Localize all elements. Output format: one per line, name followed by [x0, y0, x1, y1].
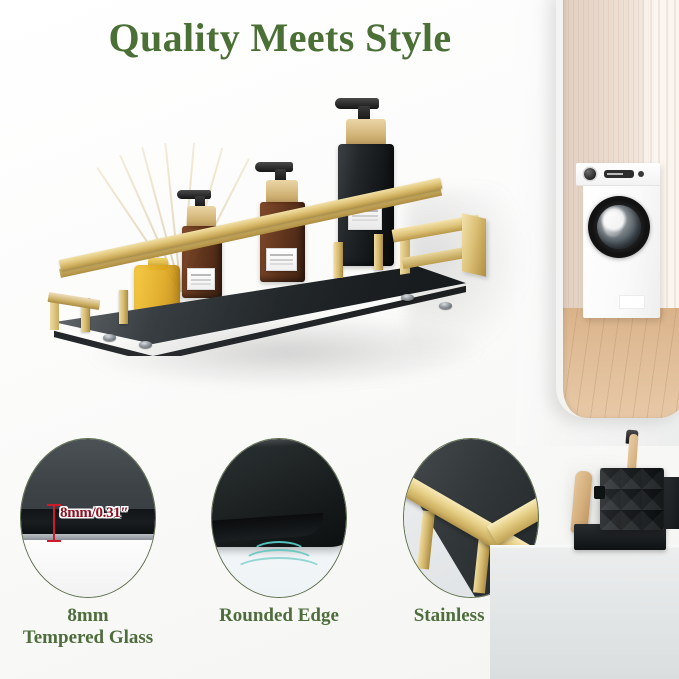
- page-title: Quality Meets Style: [0, 14, 560, 61]
- gold-wall-plate: [462, 213, 486, 277]
- feature-circle-glass-thickness: 8mm/0.31″: [20, 438, 156, 598]
- washer-button-icon: [638, 171, 644, 177]
- toothbrush-holder: [600, 468, 664, 530]
- white-background: [21, 540, 155, 597]
- holder-handle: [594, 486, 605, 499]
- gold-rail-post: [119, 290, 128, 324]
- holder-facet-pattern: [600, 468, 664, 530]
- feature-caption-line1: Rounded Edge: [211, 605, 347, 627]
- feature-caption-line2: Tempered Glass: [0, 627, 184, 649]
- full-length-mirror: [556, 0, 679, 418]
- dimension-marker-icon: [53, 504, 55, 542]
- mounting-screw: [439, 302, 452, 309]
- washer-display: [604, 170, 634, 178]
- feature-circle-rounded-edge: [211, 438, 347, 598]
- product-marketing-image: Quality Meets Style: [0, 0, 679, 679]
- gold-rail-post: [334, 242, 343, 278]
- product-shelf: [34, 110, 504, 420]
- mounting-screw: [139, 341, 152, 348]
- washer-door: [588, 196, 650, 258]
- safety-arc-icon: [233, 557, 325, 587]
- washer-dial-icon: [584, 168, 596, 180]
- washer-control-panel: [576, 163, 660, 186]
- gold-rail-post-left: [50, 302, 59, 330]
- thickness-callout: 8mm/0.31″: [60, 505, 129, 522]
- washer-door-glass: [597, 205, 641, 249]
- washer-badge: [619, 295, 645, 309]
- feature-caption-rounded-edge: Rounded Edge: [211, 605, 347, 627]
- mounting-screw: [401, 294, 414, 301]
- mounting-screw: [103, 334, 116, 341]
- bottle-label: [187, 268, 215, 290]
- reflected-wood-floor: [563, 308, 679, 418]
- bathroom-counter: [490, 548, 679, 679]
- corner-highlight: [211, 438, 330, 450]
- bottle-label: [266, 248, 297, 271]
- feature-rounded-edge: Rounded Edge: [211, 438, 347, 627]
- holder-side-panel: [663, 477, 679, 529]
- feature-tempered-glass: 8mm/0.31″ 8mm Tempered Glass: [20, 438, 156, 650]
- feature-caption-line1: 8mm: [0, 605, 184, 627]
- glass-top-surface: [21, 439, 155, 515]
- feature-caption-glass: 8mm Tempered Glass: [0, 605, 184, 650]
- reflected-washing-machine: [583, 163, 660, 318]
- gold-rail-post: [374, 234, 383, 270]
